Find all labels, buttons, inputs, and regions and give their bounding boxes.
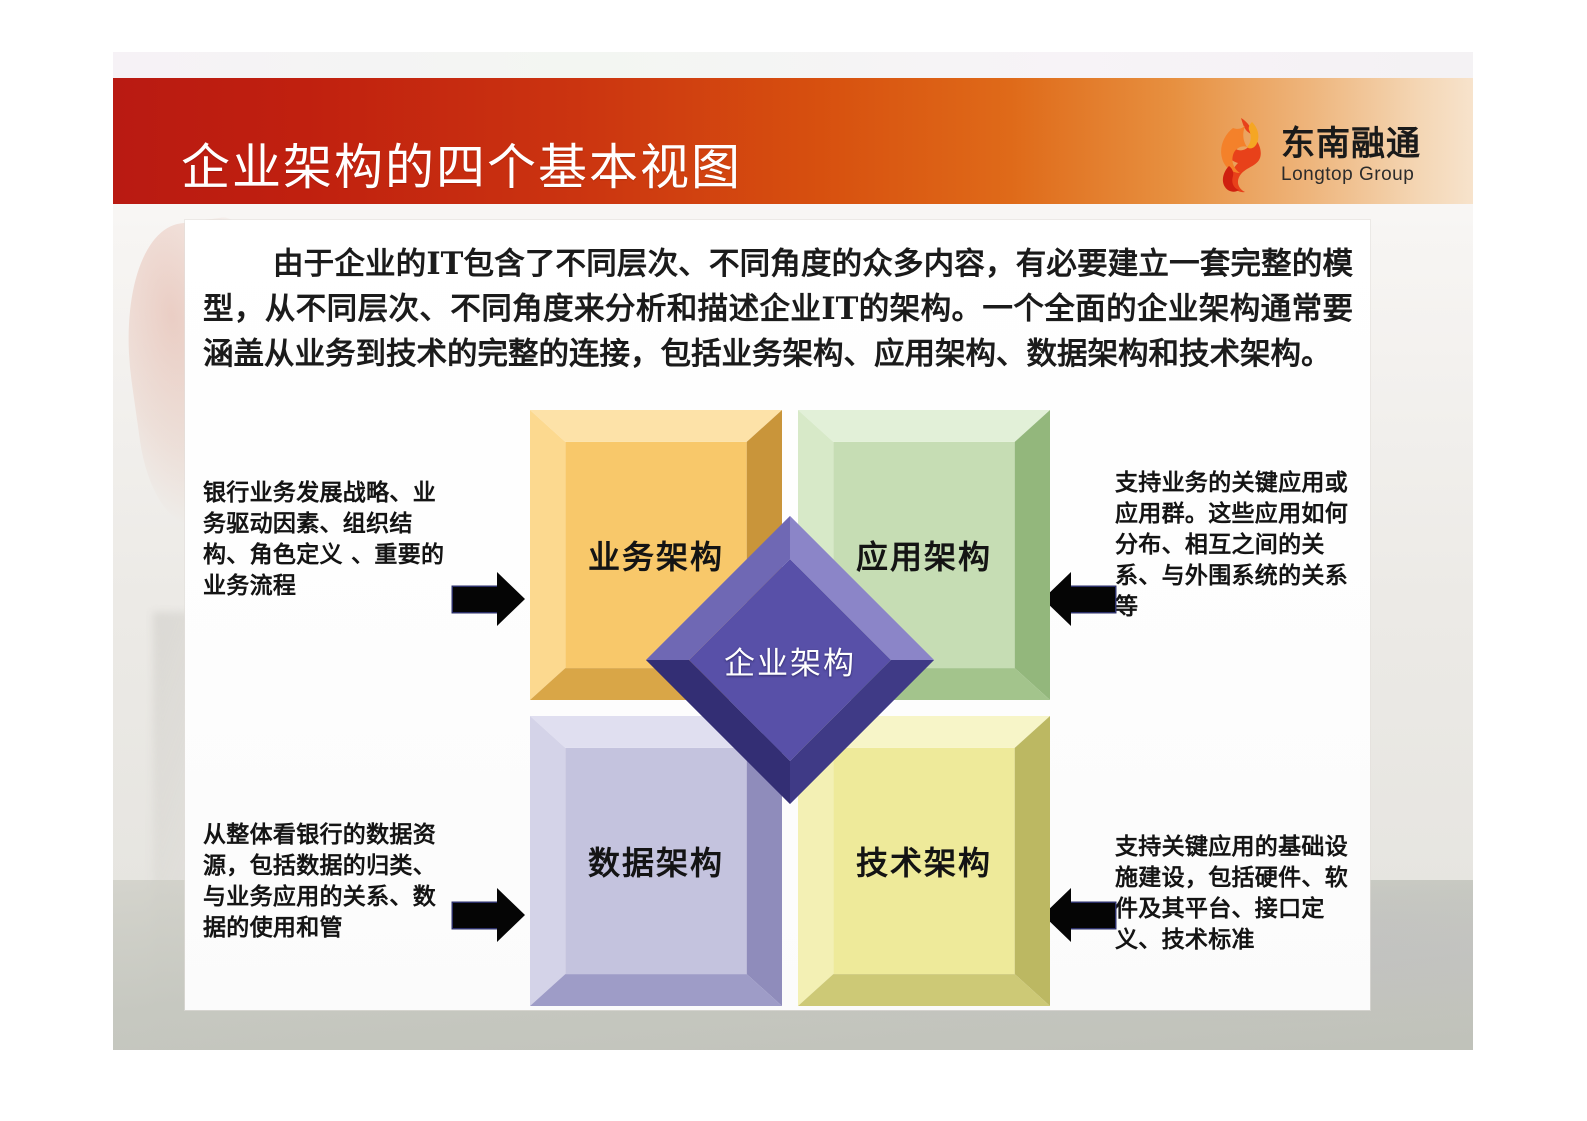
logo-english-name: Longtop Group: [1281, 165, 1421, 184]
slide: 企业架构的四个基本视图 东南融通 Longtop Group 由于企业的IT包含…: [113, 52, 1473, 1050]
logo-text: 东南融通 Longtop Group: [1281, 127, 1421, 184]
title-banner: 企业架构的四个基本视图 东南融通 Longtop Group: [113, 78, 1473, 204]
arrow-to-applicat-icon: [1043, 572, 1115, 626]
logo-chinese-name: 东南融通: [1281, 127, 1421, 161]
center-diamond-label: 企业架构: [688, 558, 892, 762]
company-logo: 东南融通 Longtop Group: [1207, 116, 1421, 194]
arrow-to-business-icon: [453, 572, 525, 626]
enterprise-architecture-diagram: 业务架构 应用架构: [530, 410, 1050, 1010]
annotation-top-right: 支持业务的关键应用或应用群。这些应用如何分布、相互之间的关系、与外围系统的关系等: [1115, 468, 1363, 623]
quadrant-data-label: 数据架构: [588, 838, 724, 884]
annotation-top-left: 银行业务发展战略、业务驱动因素、组织结构、角色定义 、重要的业务流程: [203, 478, 451, 602]
arrow-to-data-icon: [453, 888, 525, 942]
content-figure: 由于企业的IT包含了不同层次、不同角度的众多内容，有必要建立一套完整的模型，从不…: [185, 220, 1370, 1010]
flame-logo-icon: [1207, 116, 1269, 194]
arrow-to-technical-icon: [1043, 888, 1115, 942]
annotation-bottom-left: 从整体看银行的数据资源，包括数据的归类、与业务应用的关系、数据的使用和管: [203, 820, 451, 944]
center-diamond-label-wrap: 企业架构: [688, 558, 892, 762]
slide-top-strip: [113, 52, 1473, 78]
quadrant-technical-label: 技术架构: [856, 838, 992, 884]
annotation-bottom-right: 支持关键应用的基础设施建设，包括硬件、软件及其平台、接口定义、技术标准: [1115, 832, 1363, 956]
page-title: 企业架构的四个基本视图: [181, 128, 742, 199]
body-paragraph: 由于企业的IT包含了不同层次、不同角度的众多内容，有必要建立一套完整的模型，从不…: [203, 242, 1353, 377]
